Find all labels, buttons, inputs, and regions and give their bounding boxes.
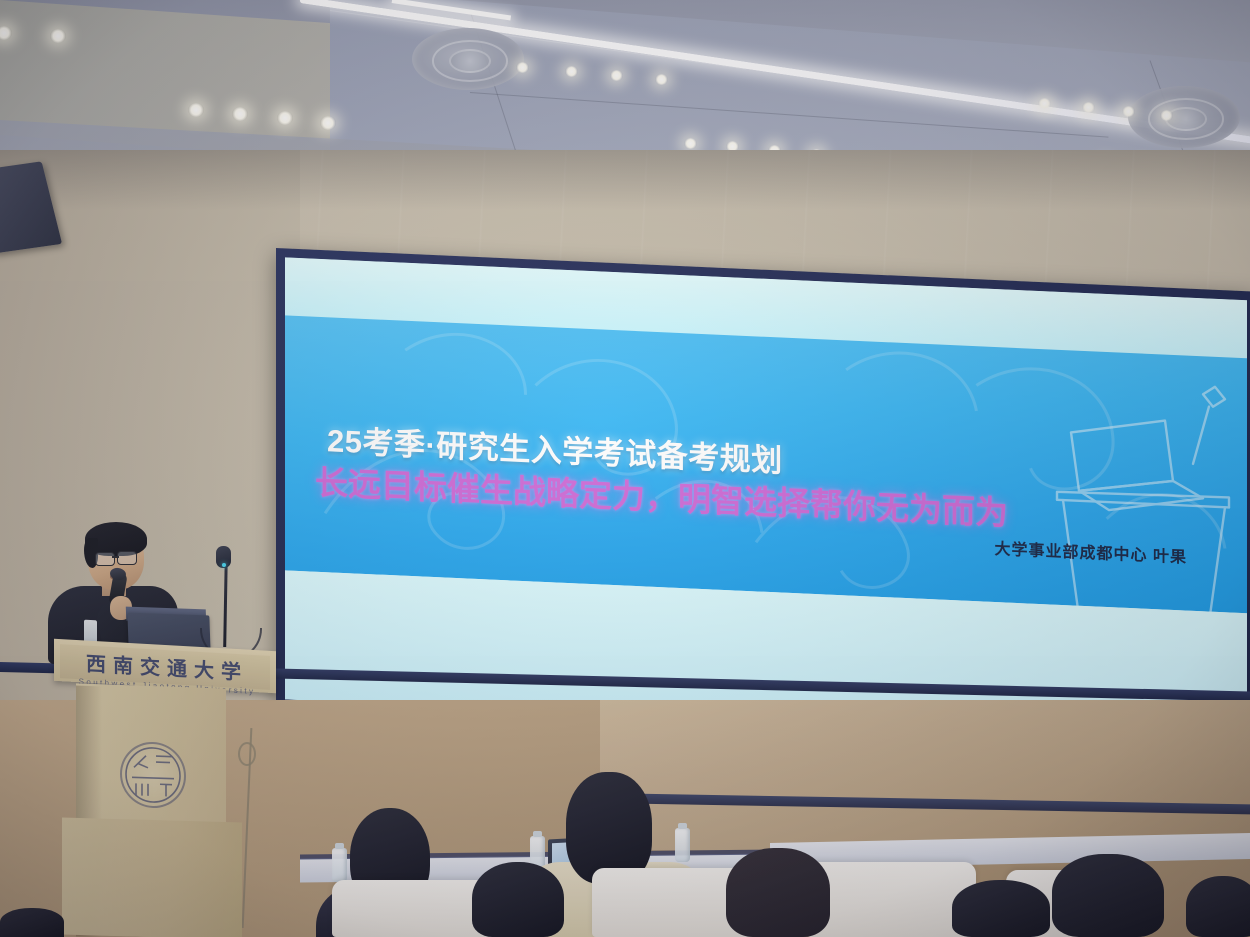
downlight: [684, 138, 697, 149]
audience-head: [952, 880, 1050, 937]
glasses-icon: [117, 551, 137, 565]
floor-light-reflection: [600, 700, 1250, 850]
ceiling-vent-icon: [412, 28, 524, 90]
university-crest-icon: [120, 741, 186, 809]
downlight: [610, 70, 623, 81]
audience-head: [1186, 876, 1250, 937]
downlight: [50, 29, 66, 43]
downlight: [320, 116, 336, 130]
slide-content-area: 25考季·研究生入学考试备考规划 长远目标催生战略定力，明智选择帮你无为而为 大…: [285, 315, 1247, 613]
wall-cable-loop: [238, 742, 256, 766]
downlight: [1122, 106, 1135, 117]
laptop-desk-illustration-icon: [1053, 372, 1233, 614]
downlight: [655, 74, 668, 85]
audience-head: [726, 848, 830, 937]
lecture-hall-photo: 25考季·研究生入学考试备考规划 长远目标催生战略定力，明智选择帮你无为而为 大…: [0, 0, 1250, 937]
audience-seat: [806, 862, 976, 937]
glasses-bridge: [112, 556, 119, 558]
water-bottle-icon: [675, 828, 690, 862]
downlight: [516, 62, 529, 73]
screen-surface: 25考季·研究生入学考试备考规划 长远目标催生战略定力，明智选择帮你无为而为 大…: [285, 257, 1247, 742]
audience-head: [1052, 854, 1164, 937]
downlight: [1082, 102, 1095, 113]
downlight: [565, 66, 578, 77]
water-bottle-icon: [332, 848, 347, 882]
downlight: [1160, 110, 1173, 121]
podium-base: [62, 817, 242, 937]
audience-head: [0, 908, 64, 937]
downlight: [232, 107, 248, 121]
mic-status-led: [222, 563, 226, 567]
downlight: [188, 103, 204, 117]
downlight: [277, 111, 293, 125]
wall-top-shadow: [0, 150, 1250, 210]
ceiling-vent-icon: [1128, 86, 1240, 148]
glasses-icon: [95, 552, 115, 566]
audience-head: [472, 862, 564, 937]
downlight: [1038, 98, 1051, 109]
